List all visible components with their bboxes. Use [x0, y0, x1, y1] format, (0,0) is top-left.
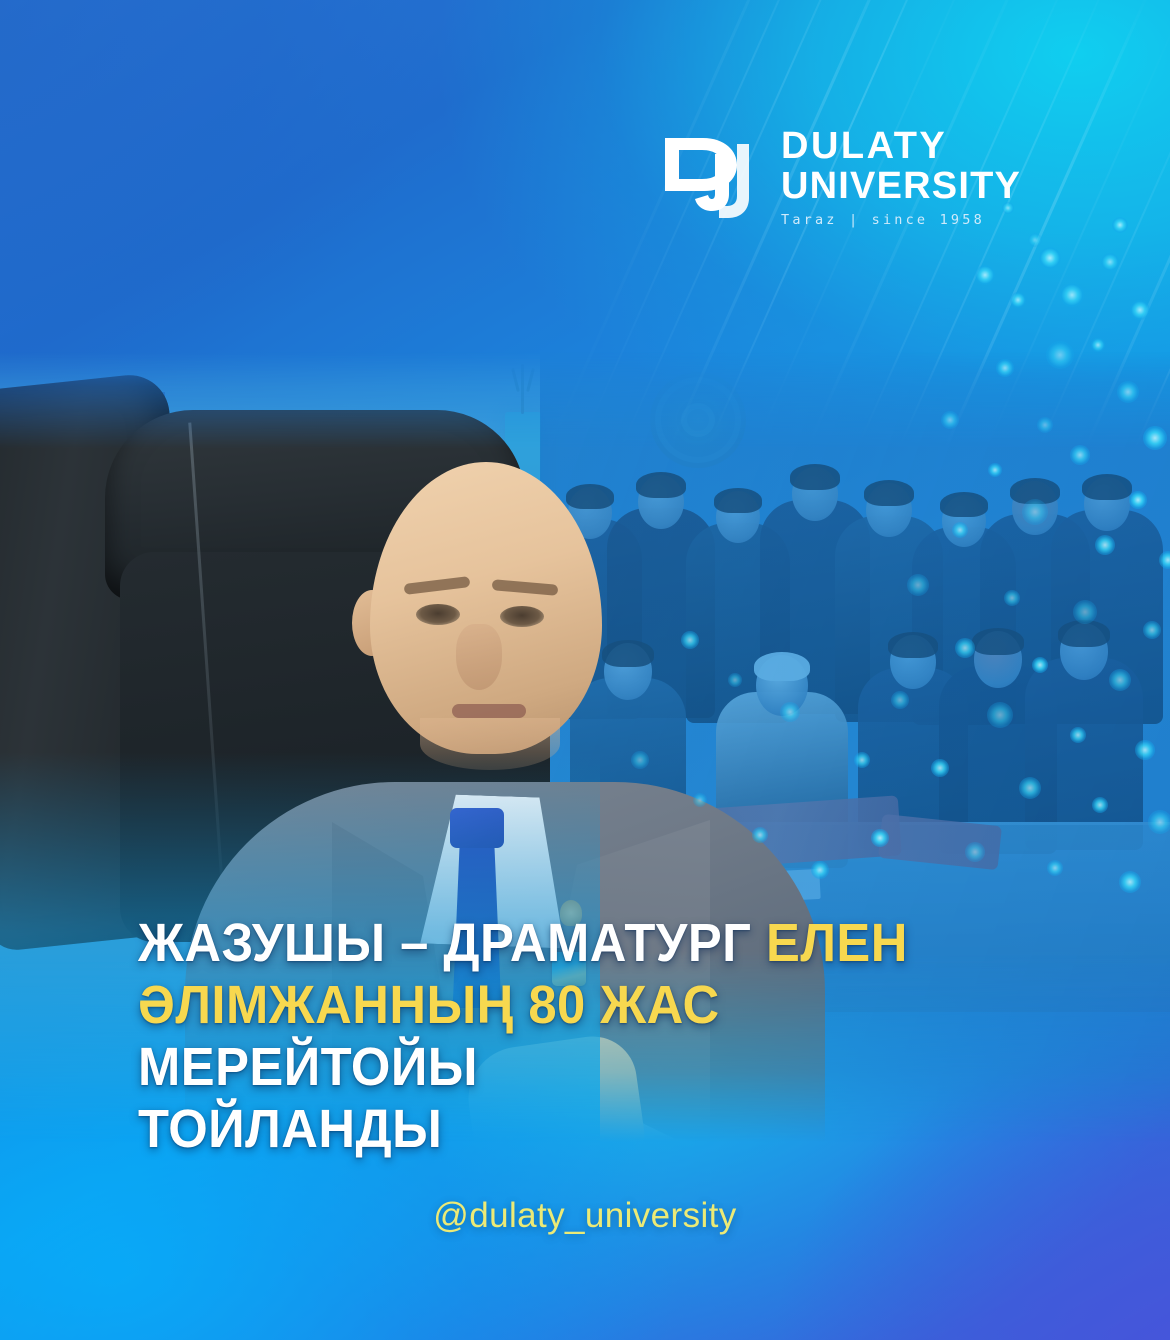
headline-line1-plain: ЖАЗУШЫ – ДРАМАТУРГ [138, 913, 766, 973]
logo-name-line1: DULATY [781, 126, 1021, 166]
logo-wordmark: DULATY UNIVERSITY Taraz | since 1958 [781, 126, 1021, 228]
speaker-eye-right [500, 606, 544, 627]
headline-line3-plain: ТОЙЛАНДЫ [138, 1099, 442, 1159]
social-handle[interactable]: @dulaty_university [0, 1196, 1170, 1236]
headline-line-3: ТОЙЛАНДЫ [138, 1098, 1040, 1160]
dulaty-university-logo[interactable]: DULATY UNIVERSITY Taraz | since 1958 [663, 126, 1021, 228]
poster-canvas: DULATY UNIVERSITY Taraz | since 1958 ЖАЗ… [0, 0, 1170, 1340]
headline-line-1: ЖАЗУШЫ – ДРАМАТУРГ ЕЛЕН [138, 912, 1040, 974]
du-monogram-icon [663, 134, 759, 220]
headline-line2-plain: МЕРЕЙТОЙЫ [138, 1037, 478, 1097]
headline-line1-highlight: ЕЛЕН [766, 913, 908, 973]
logo-name-line2: UNIVERSITY [781, 166, 1021, 206]
speaker-eye-left [416, 604, 460, 625]
headline-line2-highlight: ӘЛІМЖАННЫҢ 80 ЖАС [138, 975, 720, 1035]
headline-text: ЖАЗУШЫ – ДРАМАТУРГ ЕЛЕН ӘЛІМЖАННЫҢ 80 ЖА… [138, 912, 1040, 1160]
speaker-nose [456, 624, 502, 690]
logo-tagline: Taraz | since 1958 [781, 212, 1021, 228]
flag-finial-icon [514, 364, 532, 416]
speaker-mouth [452, 704, 526, 718]
headline-line-2: ӘЛІМЖАННЫҢ 80 ЖАС МЕРЕЙТОЙЫ [138, 974, 1040, 1098]
